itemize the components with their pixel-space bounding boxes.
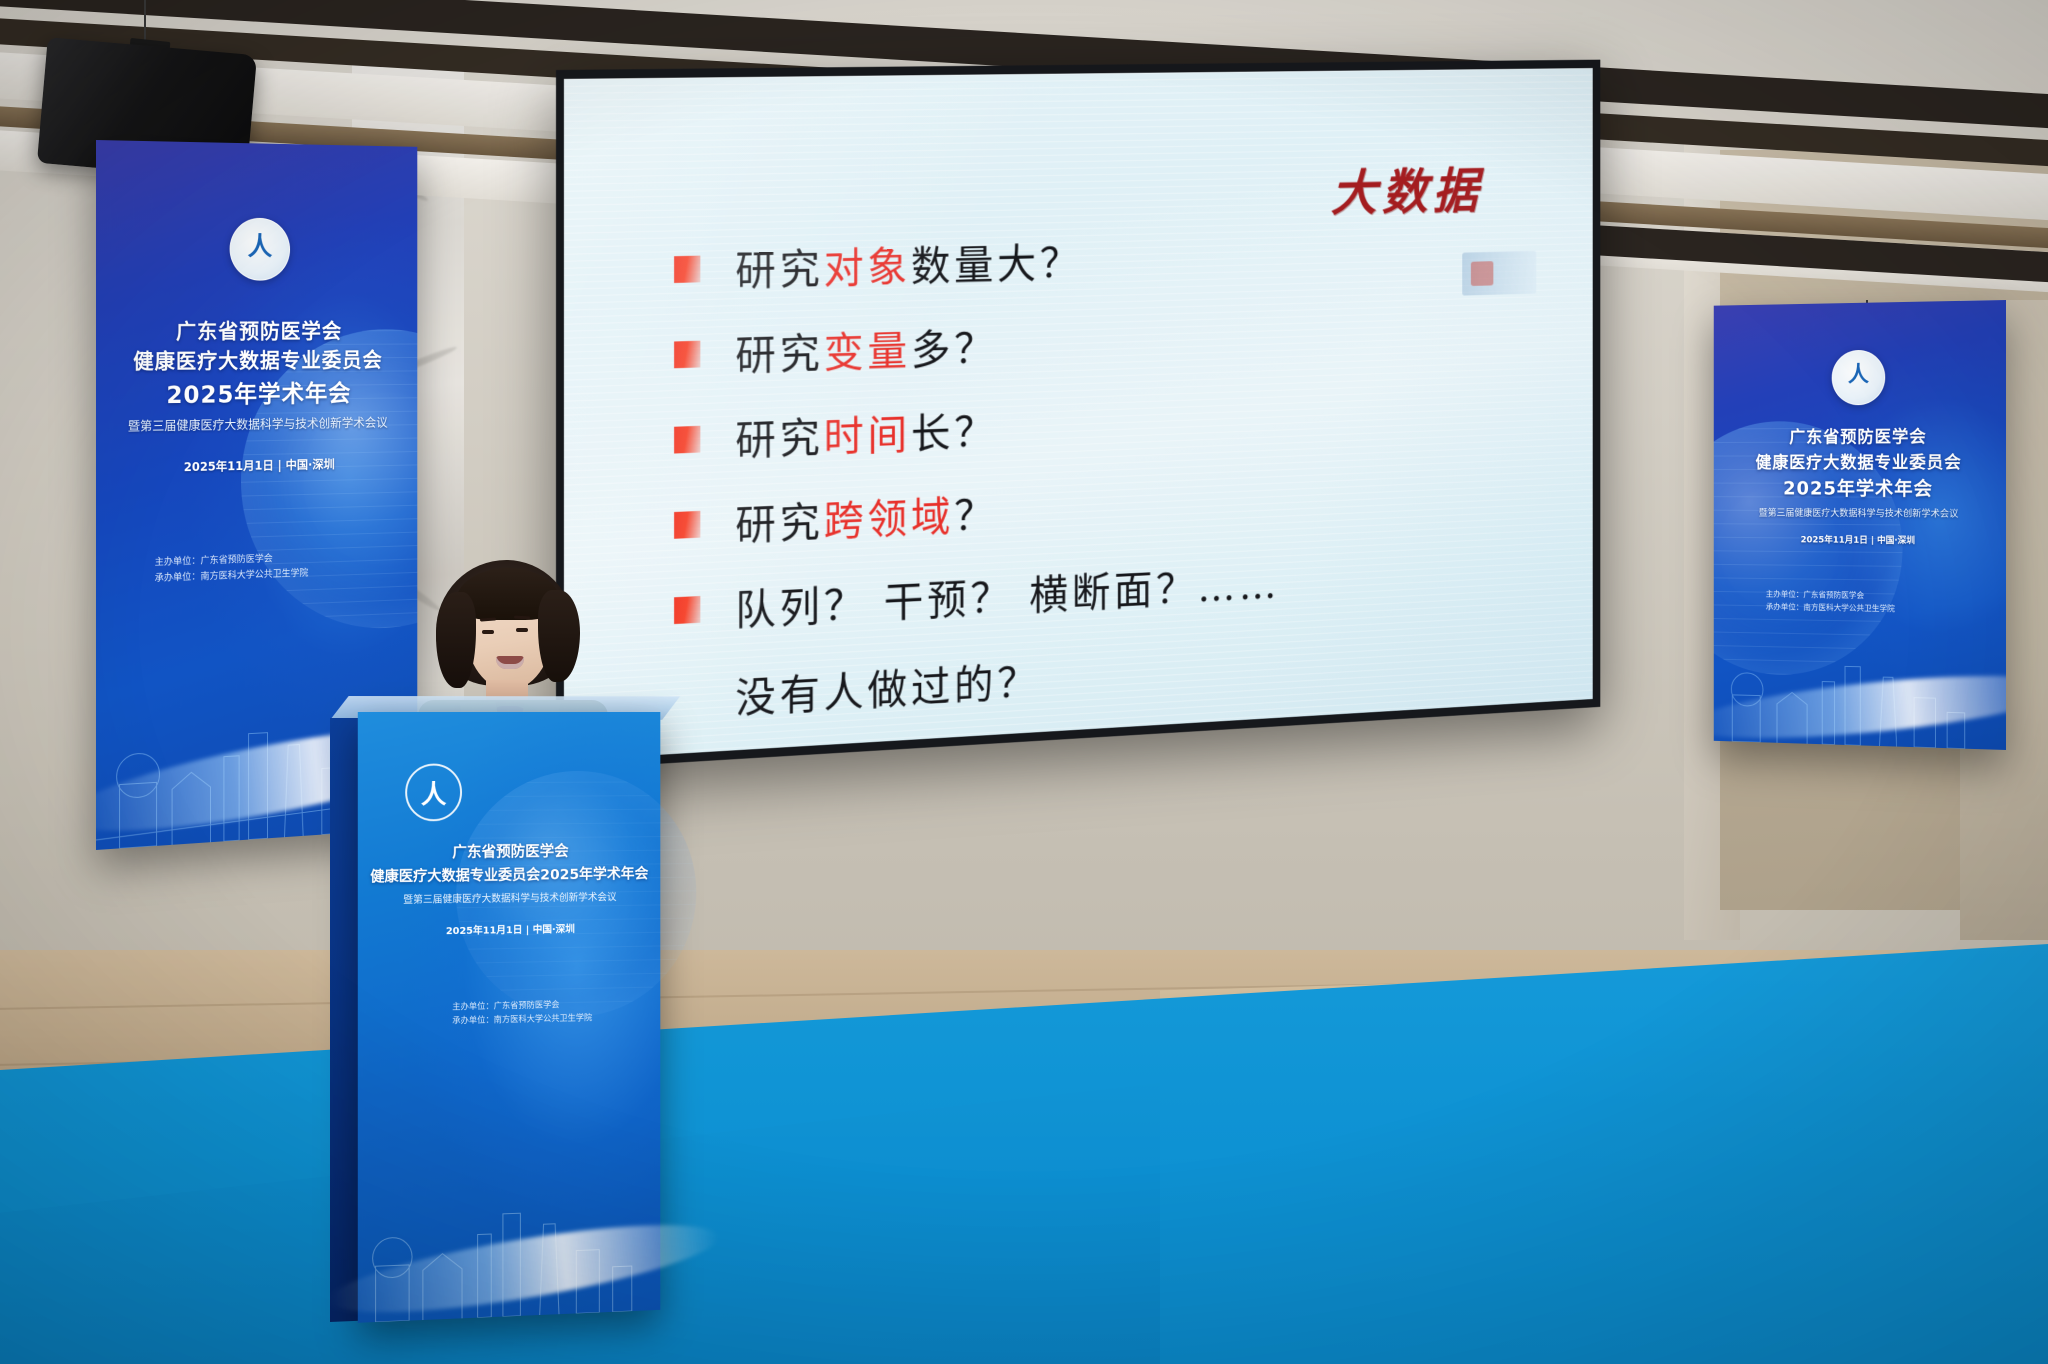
podium-org-co: 承办单位：南方医科大学公共卫生学院 [452,1012,592,1028]
emblem-label: 人 [421,774,446,811]
podium: 人 广东省预防医学会 健康医疗大数据专业委员会2025年学术年会 暨第三届健康医… [330,712,660,1324]
presenter-eye-left [482,630,494,634]
podium-front-panel: 人 广东省预防医学会 健康医疗大数据专业委员会2025年学术年会 暨第三届健康医… [358,712,661,1323]
presenter-mouth [496,656,524,669]
podium-org-host: 主办单位：广东省预防医学会 [452,999,559,1014]
podium-title-line1: 广东省预防医学会 [358,839,661,863]
presenter-hair-left [436,592,476,688]
presenter-hair-right [538,590,580,682]
stage-platform [0,0,2048,1364]
podium-left-side [330,718,360,1322]
presenter-eye-right [516,628,528,632]
podium-title-line2: 健康医疗大数据专业委员会2025年学术年会 [358,862,661,886]
conference-hall-scene: 大数据 研究对象数量大？研究变量多？研究时间长？研究跨领域？队列？ 干预？ 横断… [0,0,2048,1364]
podium-emblem: 人 [405,764,462,822]
